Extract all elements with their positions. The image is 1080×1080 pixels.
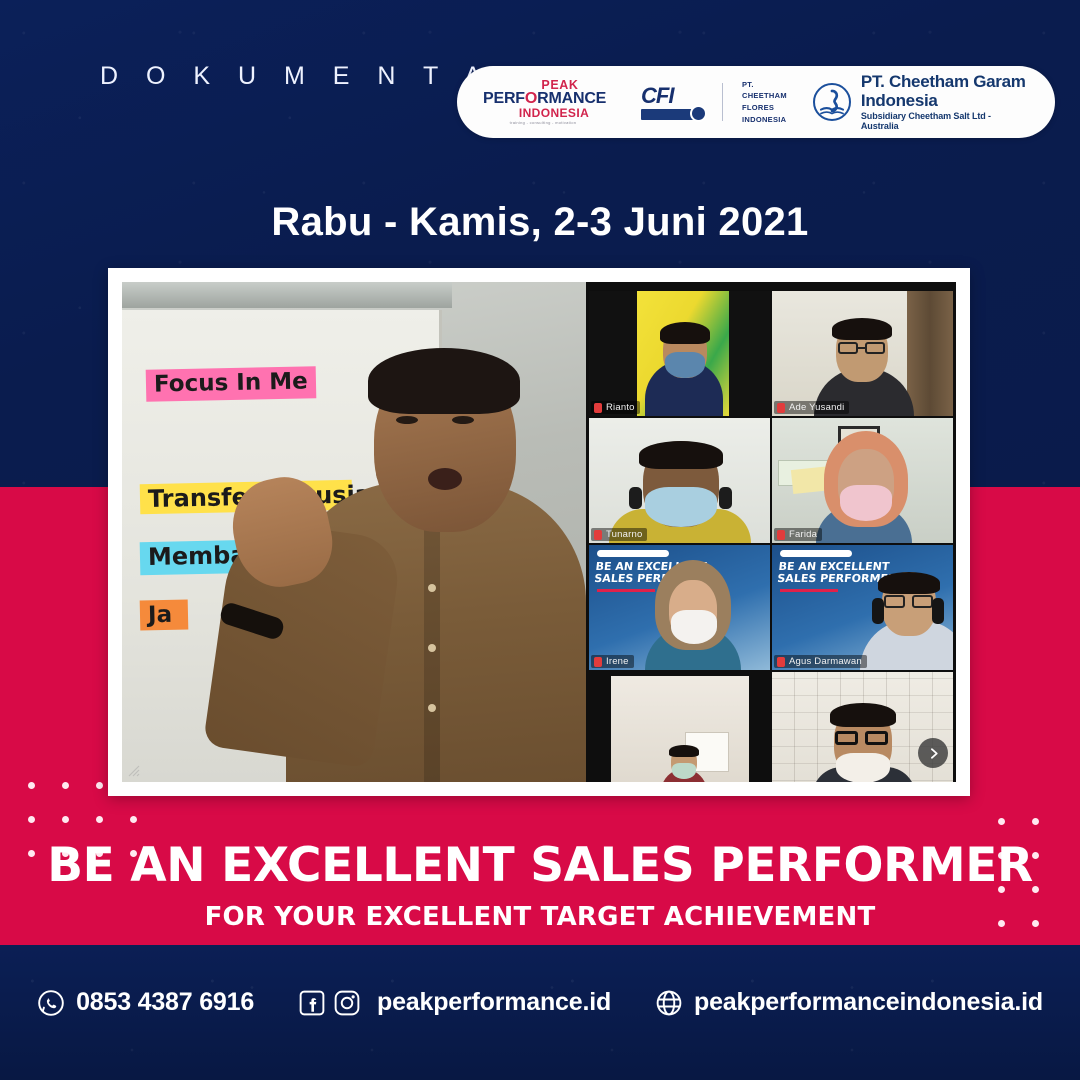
participant-name-badge: Farida <box>774 528 822 541</box>
cfi-sub-line4: INDONESIA <box>742 114 787 126</box>
participant-name: Irene <box>606 656 629 667</box>
participant-name: Ade Yusandi <box>789 402 844 413</box>
participant-tile[interactable]: Tunarno <box>589 418 770 543</box>
mic-muted-icon <box>777 403 785 413</box>
footer-website[interactable]: peakperformanceindonesia.id <box>655 988 1043 1017</box>
peak-tagline: training - consulting - motivation <box>483 121 603 125</box>
whatsapp-icon <box>37 989 65 1017</box>
logo-divider <box>722 83 723 121</box>
logo-cfi: CFI PT. CHEETHAM FLORES INDONESIA <box>641 79 787 126</box>
next-page-button[interactable] <box>918 738 948 768</box>
participant-tile[interactable]: Ade Yusandi <box>772 291 953 416</box>
shirt-button <box>428 584 436 592</box>
mic-muted-icon <box>777 530 785 540</box>
participant-tile[interactable]: Rianto <box>589 291 770 416</box>
speaker-pane: Focus In Me Transfer Antusiasme Membangu… <box>122 282 586 782</box>
social-handle: peakperformance.id <box>377 988 611 1017</box>
facebook-icon <box>298 989 326 1017</box>
participant-tile[interactable]: nanang kusnadi <box>589 672 770 782</box>
participant-grid: Rianto <box>586 282 956 782</box>
participant-name-badge: Tunarno <box>591 528 647 541</box>
shirt-button <box>428 704 436 712</box>
participant-tile[interactable]: BE AN EXCELLENTSALES PERFORMER Irene <box>589 545 770 670</box>
tile-video <box>772 418 953 543</box>
participant-name: Farida <box>789 529 817 540</box>
cfi-wordmark: CFI <box>641 85 703 107</box>
participant-name: Agus Darmawan <box>789 656 862 667</box>
cfi-mark: CFI <box>641 85 703 120</box>
banner-headline: BE AN EXCELLENT SALES PERFORMER <box>0 838 1080 893</box>
tile-video-virtual-background: BE AN EXCELLENTSALES PERFORMER <box>772 545 953 670</box>
chevron-right-icon <box>927 747 940 760</box>
mic-muted-icon <box>594 657 602 667</box>
zoom-meeting-screenshot: Focus In Me Transfer Antusiasme Membangu… <box>122 282 956 782</box>
cfi-subtext: PT. CHEETHAM FLORES INDONESIA <box>742 79 787 126</box>
shirt-button <box>428 644 436 652</box>
cgi-text-block: PT. Cheetham Garam Indonesia Subsidiary … <box>861 73 1029 130</box>
grid-row: nanang kusnadi <box>588 671 954 782</box>
mic-muted-icon <box>594 530 602 540</box>
speaker-figure <box>256 282 586 782</box>
cfi-sub-line3: FLORES <box>742 102 787 114</box>
participant-name-badge: Ade Yusandi <box>774 401 849 414</box>
tile-video-virtual-background: BE AN EXCELLENTSALES PERFORMER <box>589 545 770 670</box>
tile-video <box>589 418 770 543</box>
photo-frame: Focus In Me Transfer Antusiasme Membangu… <box>108 268 970 796</box>
participant-tile[interactable]: BE AN EXCELLENTSALES PERFORMER <box>772 545 953 670</box>
cgi-company-name: PT. Cheetham Garam Indonesia <box>861 73 1029 110</box>
logo-peak-performance: PEAK PERFORMANCE INDONESIA training - co… <box>483 79 603 126</box>
cheetham-seahorse-icon <box>813 83 851 121</box>
instagram-icon <box>333 989 361 1017</box>
resize-handle[interactable] <box>128 764 140 776</box>
peak-line2: PERFORMANCE <box>483 91 603 107</box>
website-url: peakperformanceindonesia.id <box>694 988 1043 1017</box>
speaker-mouth <box>428 468 462 490</box>
participant-name-badge: Agus Darmawan <box>774 655 867 668</box>
tile-video <box>589 291 770 416</box>
grid-row: BE AN EXCELLENTSALES PERFORMER Irene <box>588 544 954 671</box>
participant-name-badge: Irene <box>591 655 634 668</box>
participant-name: Tunarno <box>606 529 642 540</box>
banner: BE AN EXCELLENT SALES PERFORMER FOR YOUR… <box>0 838 1080 932</box>
cfi-sub-line1: PT. <box>742 79 787 91</box>
peak-line3: INDONESIA <box>505 107 603 119</box>
banner-subheadline: FOR YOUR EXCELLENT TARGET ACHIEVEMENT <box>0 902 1080 932</box>
footer-contact-bar: 0853 4387 6916 peakperformance.id <box>0 988 1080 1017</box>
participant-name-badge: Rianto <box>591 401 640 414</box>
speaker-eye <box>452 416 474 424</box>
poster-canvas: D O K U M E N T A S I PEAK PERFORMANCE I… <box>0 0 1080 1080</box>
mic-muted-icon <box>594 403 602 413</box>
grid-row: Rianto <box>588 290 954 417</box>
participant-tile[interactable]: Farida <box>772 418 953 543</box>
cgi-subtitle: Subsidiary Cheetham Salt Ltd - Australia <box>861 111 1029 131</box>
speaker-hair <box>368 348 520 414</box>
logo-bar: PEAK PERFORMANCE INDONESIA training - co… <box>457 66 1055 138</box>
mic-muted-icon <box>777 657 785 667</box>
cfi-globe-icon <box>690 105 707 122</box>
globe-icon <box>655 989 683 1017</box>
tile-video <box>772 291 953 416</box>
tile-video <box>589 672 770 782</box>
whatsapp-number: 0853 4387 6916 <box>76 988 254 1017</box>
sticky-note-4: Ja <box>140 600 189 631</box>
event-date: Rabu - Kamis, 2-3 Juni 2021 <box>0 200 1080 245</box>
grid-row: Tunarno <box>588 417 954 544</box>
cfi-bar-shape <box>641 109 703 120</box>
participant-name: Rianto <box>606 402 635 413</box>
footer-social[interactable]: peakperformance.id <box>298 988 611 1017</box>
speaker-eye <box>396 416 418 424</box>
cfi-sub-line2: CHEETHAM <box>742 90 787 102</box>
logo-cheetham-garam: PT. Cheetham Garam Indonesia Subsidiary … <box>813 73 1029 130</box>
footer-whatsapp[interactable]: 0853 4387 6916 <box>37 988 254 1017</box>
